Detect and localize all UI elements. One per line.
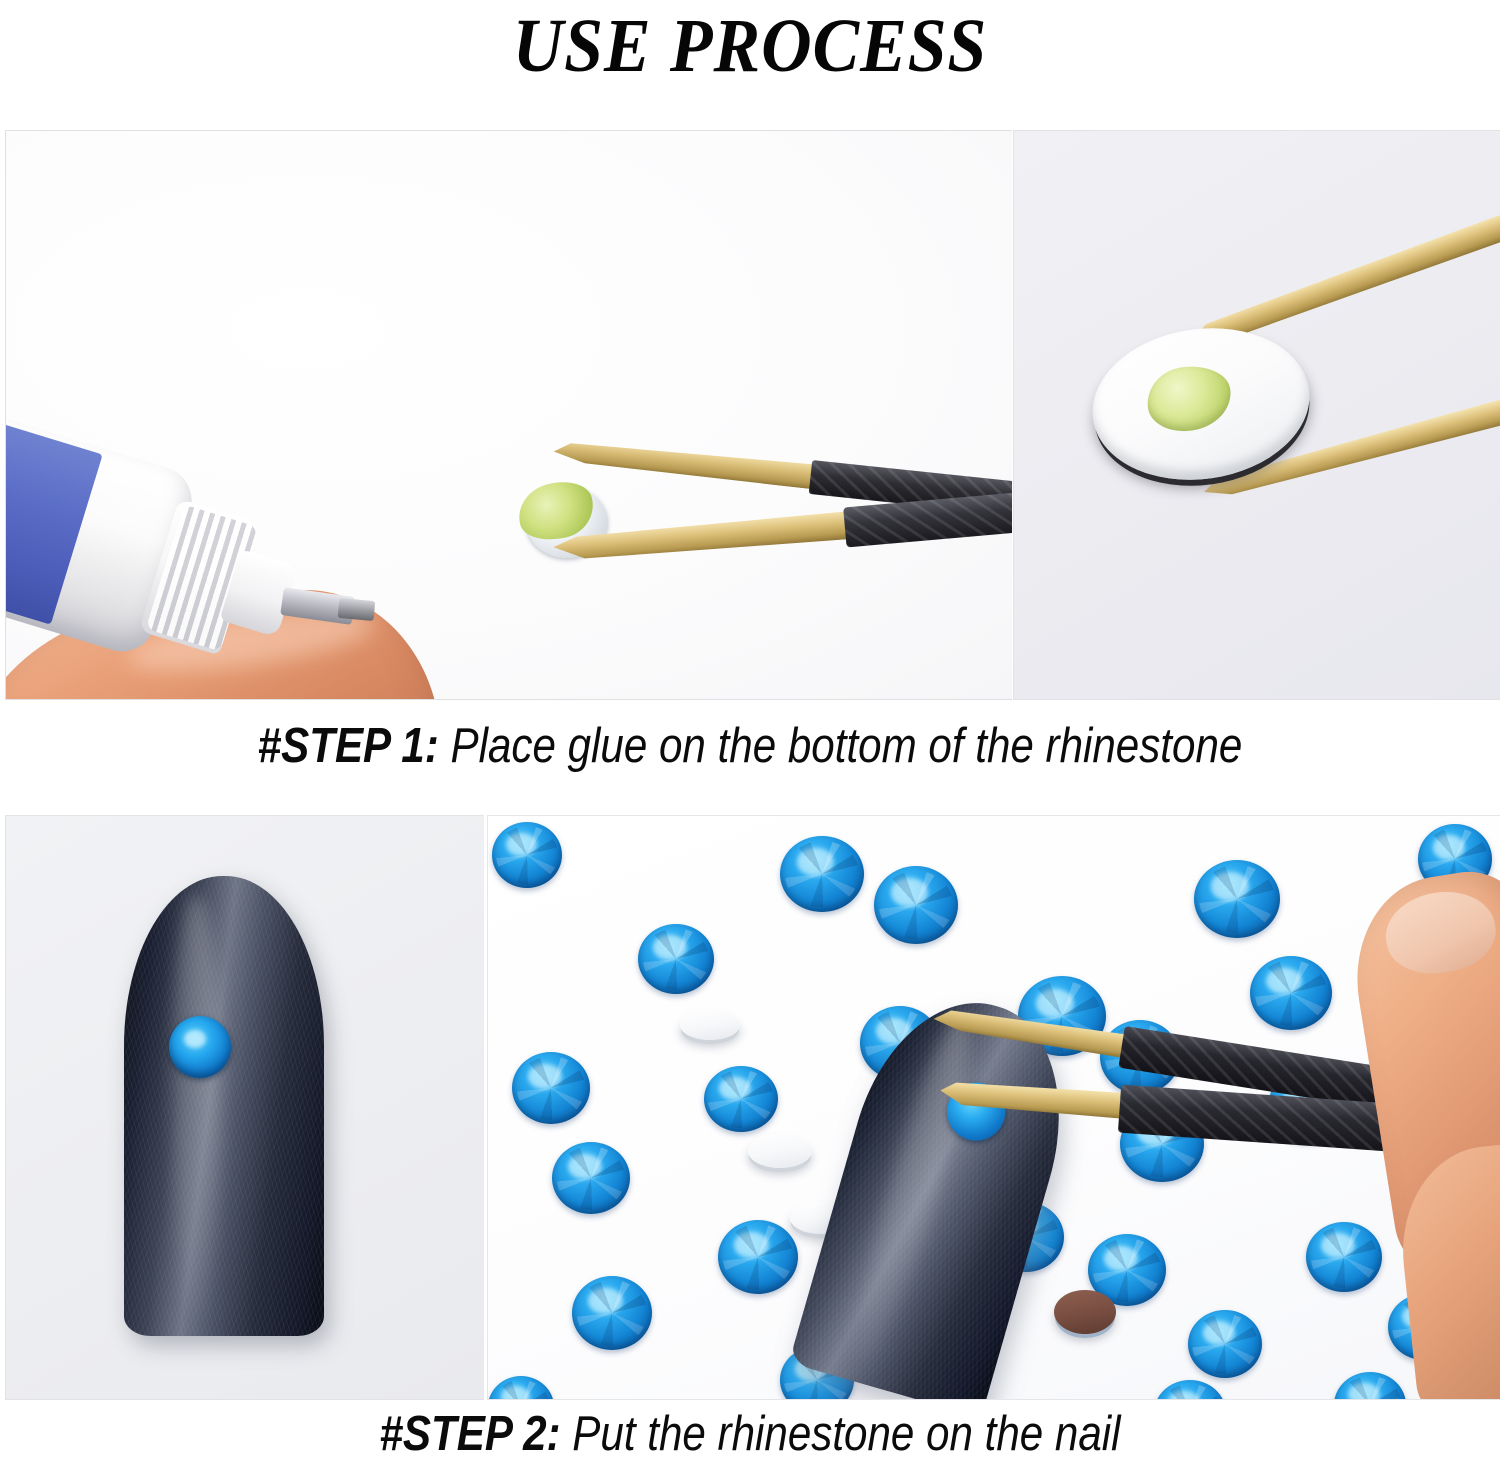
nail-glitter-texture-icon <box>124 876 324 1336</box>
step1-rhinestone-closeup-photo <box>1013 130 1500 700</box>
rhinestone <box>1194 860 1280 938</box>
rhinestone <box>1306 1222 1382 1292</box>
rhinestone <box>1250 956 1332 1030</box>
step2-label: #STEP 2: <box>379 1407 560 1461</box>
step1-caption: #STEP 1: Place glue on the bottom of the… <box>105 718 1395 774</box>
step2-finished-nail-photo <box>5 815 484 1400</box>
step2-text: Put the rhinestone on the nail <box>561 1407 1121 1461</box>
nail-gloss-highlight-icon <box>172 894 220 1317</box>
step2-caption: #STEP 2: Put the rhinestone on the nail <box>105 1406 1395 1462</box>
rhinestone <box>1188 1310 1262 1378</box>
rhinestone <box>780 836 864 912</box>
rhinestone <box>512 1052 590 1124</box>
glue-bottle-needle-tip <box>338 598 376 621</box>
rhinestone <box>488 1376 554 1400</box>
applied-rhinestone <box>169 1016 231 1078</box>
rhinestone-flat-back-dark <box>1054 1290 1116 1334</box>
rhinestone <box>492 822 562 888</box>
infographic-page: USE PROCESS RhGl <box>0 0 1500 1466</box>
rhinestone-flat-back <box>748 1134 812 1168</box>
rhinestone <box>572 1276 652 1350</box>
rhinestone <box>704 1066 778 1132</box>
rhinestone <box>1334 1372 1406 1400</box>
tweezer-gold-tip <box>939 1080 1130 1119</box>
step1-glue-application-photo: RhGl <box>5 130 1012 700</box>
rhinestone <box>638 924 714 994</box>
rhinestone <box>874 866 958 944</box>
rhinestone-flat-back <box>680 1010 740 1040</box>
step1-label: #STEP 1: <box>258 719 439 773</box>
step1-text: Place glue on the bottom of the rhinesto… <box>439 719 1243 773</box>
rhinestone <box>1154 1380 1226 1400</box>
rhinestone <box>718 1220 798 1294</box>
rhinestone <box>552 1142 630 1214</box>
step2-scattered-rhinestones-photo <box>487 815 1500 1400</box>
fingernail <box>1380 884 1500 980</box>
press-on-nail <box>124 876 324 1336</box>
page-title: USE PROCESS <box>60 0 1440 92</box>
